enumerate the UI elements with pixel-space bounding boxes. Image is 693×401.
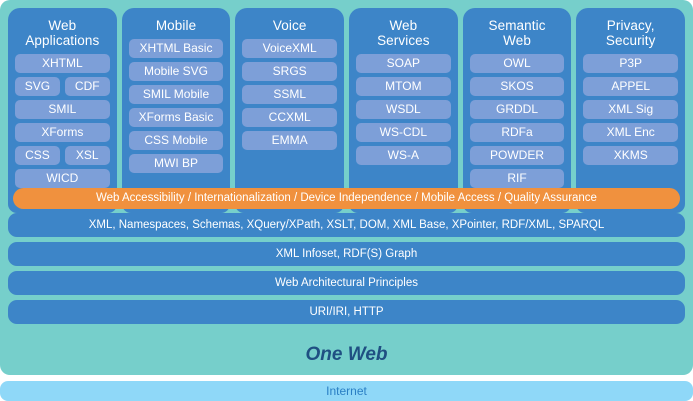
- cross-cutting-concerns-bar: Web Accessibility / Internationalization…: [13, 188, 680, 209]
- technology-pill[interactable]: GRDDL: [470, 100, 565, 119]
- technology-pill[interactable]: WS-CDL: [356, 123, 451, 142]
- technology-pill-list: XHTML BasicMobile SVGSMIL MobileXForms B…: [129, 39, 224, 173]
- technology-pill[interactable]: RIF: [470, 169, 565, 188]
- one-web-panel: Web ApplicationsXHTMLSVGCDFSMILXFormsCSS…: [0, 0, 693, 375]
- technology-pill[interactable]: CDF: [65, 77, 110, 96]
- technology-pill-list: SOAPMTOMWSDLWS-CDLWS-A: [356, 54, 451, 165]
- pill-row: XForms Basic: [129, 108, 224, 127]
- technology-column: VoiceVoiceXMLSRGSSSMLCCXMLEMMA: [235, 8, 344, 213]
- pill-row: XKMS: [583, 146, 678, 165]
- technology-pill[interactable]: SMIL Mobile: [129, 85, 224, 104]
- technology-pill[interactable]: Mobile SVG: [129, 62, 224, 81]
- pill-row: XForms: [15, 123, 110, 142]
- technology-column: MobileXHTML BasicMobile SVGSMIL MobileXF…: [122, 8, 231, 213]
- technology-pill[interactable]: POWDER: [470, 146, 565, 165]
- technology-pill[interactable]: CSS Mobile: [129, 131, 224, 150]
- pill-row: SMIL: [15, 100, 110, 119]
- pill-row: WS-CDL: [356, 123, 451, 142]
- pill-row: SVGCDF: [15, 77, 110, 96]
- pill-row: XHTML Basic: [129, 39, 224, 58]
- technology-pill[interactable]: XForms: [15, 123, 110, 142]
- pill-row: MTOM: [356, 77, 451, 96]
- pill-row: CSS Mobile: [129, 131, 224, 150]
- pill-row: RDFa: [470, 123, 565, 142]
- pill-row: SSML: [242, 85, 337, 104]
- column-title: Semantic Web: [470, 15, 565, 54]
- w3c-technology-stack-diagram: Web ApplicationsXHTMLSVGCDFSMILXFormsCSS…: [0, 0, 693, 401]
- technology-pill[interactable]: MWI BP: [129, 154, 224, 173]
- technology-pill[interactable]: SVG: [15, 77, 60, 96]
- column-title: Web Services: [356, 15, 451, 54]
- foundation-bar: Web Architectural Principles: [8, 271, 685, 295]
- technology-pill[interactable]: MTOM: [356, 77, 451, 96]
- pill-row: SRGS: [242, 62, 337, 81]
- pill-row: MWI BP: [129, 154, 224, 173]
- technology-column: Web ApplicationsXHTMLSVGCDFSMILXFormsCSS…: [8, 8, 117, 213]
- technology-pill[interactable]: APPEL: [583, 77, 678, 96]
- technology-pill-list: OWLSKOSGRDDLRDFaPOWDERRIF: [470, 54, 565, 188]
- technology-pill[interactable]: XML Enc: [583, 123, 678, 142]
- pill-row: WSDL: [356, 100, 451, 119]
- technology-pill[interactable]: XHTML Basic: [129, 39, 224, 58]
- pill-row: WS-A: [356, 146, 451, 165]
- pill-row: XHTML: [15, 54, 110, 73]
- technology-pill-list: P3PAPPELXML SigXML EncXKMS: [583, 54, 678, 165]
- technology-pill[interactable]: P3P: [583, 54, 678, 73]
- technology-pill[interactable]: CCXML: [242, 108, 337, 127]
- foundation-bar: XML Infoset, RDF(S) Graph: [8, 242, 685, 266]
- technology-pill[interactable]: XML Sig: [583, 100, 678, 119]
- technology-pill[interactable]: SOAP: [356, 54, 451, 73]
- pill-row: POWDER: [470, 146, 565, 165]
- technology-pill[interactable]: SKOS: [470, 77, 565, 96]
- technology-pill[interactable]: RDFa: [470, 123, 565, 142]
- technology-column: Web ServicesSOAPMTOMWSDLWS-CDLWS-A: [349, 8, 458, 213]
- pill-row: RIF: [470, 169, 565, 188]
- pill-row: SKOS: [470, 77, 565, 96]
- technology-pill[interactable]: SSML: [242, 85, 337, 104]
- technology-pill[interactable]: WICD: [15, 169, 110, 188]
- internet-bar: Internet: [0, 381, 693, 401]
- technology-pill[interactable]: XForms Basic: [129, 108, 224, 127]
- technology-pill[interactable]: SMIL: [15, 100, 110, 119]
- pill-row: WICD: [15, 169, 110, 188]
- technology-pill[interactable]: WSDL: [356, 100, 451, 119]
- technology-pill[interactable]: VoiceXML: [242, 39, 337, 58]
- technology-pill-list: XHTMLSVGCDFSMILXFormsCSSXSLWICD: [15, 54, 110, 188]
- technology-pill[interactable]: XHTML: [15, 54, 110, 73]
- technology-pill[interactable]: WS-A: [356, 146, 451, 165]
- pill-row: XML Enc: [583, 123, 678, 142]
- pill-row: CSSXSL: [15, 146, 110, 165]
- one-web-label: One Web: [0, 340, 693, 375]
- pill-row: P3P: [583, 54, 678, 73]
- technology-pill[interactable]: XKMS: [583, 146, 678, 165]
- technology-pill[interactable]: XSL: [65, 146, 110, 165]
- pill-row: GRDDL: [470, 100, 565, 119]
- pill-row: SOAP: [356, 54, 451, 73]
- technology-pill[interactable]: CSS: [15, 146, 60, 165]
- column-title: Web Applications: [15, 15, 110, 54]
- technology-column: Privacy, SecurityP3PAPPELXML SigXML EncX…: [576, 8, 685, 213]
- column-title: Mobile: [129, 15, 224, 39]
- pill-row: Mobile SVG: [129, 62, 224, 81]
- column-title: Voice: [242, 15, 337, 39]
- foundation-bar: URI/IRI, HTTP: [8, 300, 685, 324]
- pill-row: VoiceXML: [242, 39, 337, 58]
- technology-column: Semantic WebOWLSKOSGRDDLRDFaPOWDERRIF: [463, 8, 572, 213]
- technology-pill[interactable]: OWL: [470, 54, 565, 73]
- pill-row: OWL: [470, 54, 565, 73]
- technology-pill-list: VoiceXMLSRGSSSMLCCXMLEMMA: [242, 39, 337, 150]
- column-title: Privacy, Security: [583, 15, 678, 54]
- pill-row: XML Sig: [583, 100, 678, 119]
- pill-row: APPEL: [583, 77, 678, 96]
- foundation-bar: XML, Namespaces, Schemas, XQuery/XPath, …: [8, 213, 685, 237]
- pill-row: EMMA: [242, 131, 337, 150]
- pill-row: SMIL Mobile: [129, 85, 224, 104]
- pill-row: CCXML: [242, 108, 337, 127]
- technology-pill[interactable]: EMMA: [242, 131, 337, 150]
- technology-pill[interactable]: SRGS: [242, 62, 337, 81]
- foundation-bars: XML, Namespaces, Schemas, XQuery/XPath, …: [8, 213, 685, 329]
- technology-columns: Web ApplicationsXHTMLSVGCDFSMILXFormsCSS…: [8, 8, 685, 213]
